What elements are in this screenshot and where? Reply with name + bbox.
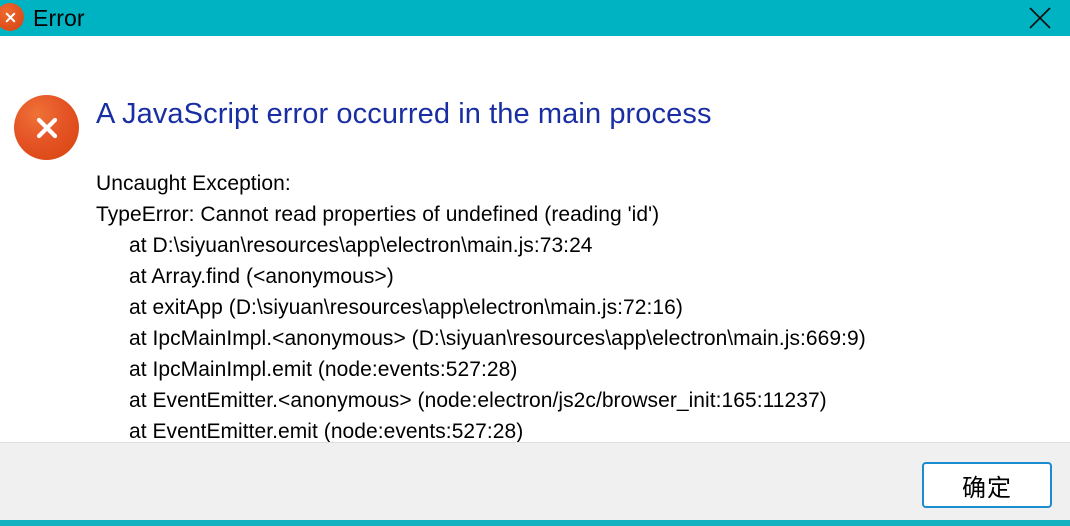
window-title: Error	[33, 0, 85, 36]
stack-trace-line: at IpcMainImpl.<anonymous> (D:\siyuan\re…	[96, 323, 1056, 354]
error-circle-icon	[0, 3, 24, 31]
dialog-content: A JavaScript error occurred in the main …	[0, 36, 1070, 442]
close-icon[interactable]	[1023, 2, 1057, 34]
message-line: Uncaught Exception:	[96, 168, 1056, 199]
error-dialog-window: Error A JavaScript error occurred in the…	[0, 0, 1070, 526]
stack-trace-line: at exitApp (D:\siyuan\resources\app\elec…	[96, 292, 1056, 323]
stack-trace-line: at D:\siyuan\resources\app\electron\main…	[96, 230, 1056, 261]
stack-trace-line: at Array.find (<anonymous>)	[96, 261, 1056, 292]
error-message-block: Uncaught Exception: TypeError: Cannot re…	[96, 168, 1056, 447]
dialog-footer: 确定	[0, 442, 1070, 526]
stack-trace-line: at IpcMainImpl.emit (node:events:527:28)	[96, 354, 1056, 385]
ok-button[interactable]: 确定	[922, 462, 1052, 508]
title-bar: Error	[0, 0, 1070, 36]
message-line: TypeError: Cannot read properties of und…	[96, 199, 1056, 230]
window-bottom-border	[0, 520, 1070, 526]
error-circle-icon-large	[14, 95, 79, 160]
page-title: A JavaScript error occurred in the main …	[96, 98, 712, 131]
stack-trace-line: at EventEmitter.<anonymous> (node:electr…	[96, 385, 1056, 416]
